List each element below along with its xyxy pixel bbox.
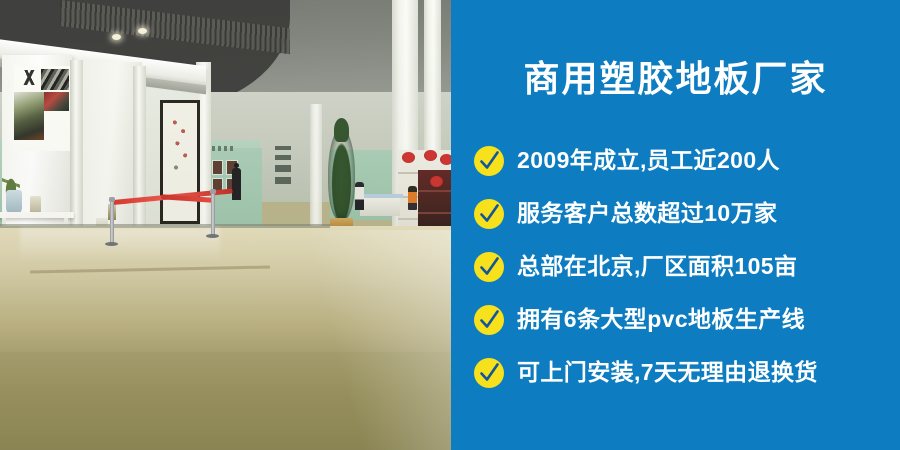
barrier-post-top — [109, 197, 115, 202]
floor-light-sheen — [300, 230, 451, 450]
poster-photo — [14, 92, 44, 140]
feature-list: 2009年成立,员工近200人 服务客户总数超过10万家 总部在北京,厂区面积1… — [451, 134, 900, 399]
booth-column — [133, 66, 146, 250]
flower-bouquet — [402, 152, 415, 163]
feature-label: 拥有6条大型pvc地板生产线 — [517, 308, 805, 331]
list-item: 拥有6条大型pvc地板生产线 — [451, 293, 900, 346]
list-item: 2009年成立,员工近200人 — [451, 134, 900, 187]
check-circle-icon — [473, 251, 505, 283]
person-in-orange — [408, 186, 417, 210]
feature-label: 总部在北京,厂区面积105亩 — [517, 255, 797, 278]
poster-calligraphy — [18, 70, 40, 85]
barrier-post — [211, 192, 215, 236]
list-item: 服务客户总数超过10万家 — [451, 187, 900, 240]
person-head — [234, 163, 239, 168]
promo-banner: 商用塑胶地板厂家 2009年成立,员工近200人 服务客户总数超过10万家 — [0, 0, 900, 450]
reception-counter-top — [358, 194, 403, 198]
wall-calligraphy — [275, 146, 291, 188]
feature-label: 服务客户总数超过10万家 — [517, 202, 777, 225]
check-circle-icon — [473, 357, 505, 389]
info-panel: 商用塑胶地板厂家 2009年成立,员工近200人 服务客户总数超过10万家 — [451, 0, 900, 450]
reception-counter — [360, 196, 400, 216]
showroom-photo-scene — [0, 0, 451, 450]
feature-label: 2009年成立,员工近200人 — [517, 149, 780, 172]
check-circle-icon — [473, 145, 505, 177]
cabinet-shelf — [418, 212, 451, 214]
cabinet-shelf — [418, 190, 451, 192]
flower-bouquet — [430, 176, 443, 187]
person-standing — [232, 168, 241, 200]
structural-column — [310, 104, 322, 232]
check-circle-icon — [473, 304, 505, 336]
flower-bouquet — [440, 154, 451, 165]
vase — [6, 190, 22, 214]
showroom-photo — [0, 0, 451, 450]
ceiling-lamp-icon — [138, 28, 147, 34]
barrier-post — [110, 200, 114, 244]
page-title: 商用塑胶地板厂家 — [451, 57, 900, 100]
feature-label: 可上门安装,7天无理由退换货 — [517, 361, 818, 384]
list-item: 可上门安装,7天无理由退换货 — [451, 346, 900, 399]
floor-reflection — [20, 228, 220, 262]
display-table — [0, 212, 74, 218]
list-item: 总部在北京,厂区面积105亩 — [451, 240, 900, 293]
framed-artwork — [160, 100, 200, 224]
ceiling-lamp-icon — [112, 34, 121, 40]
flower-bouquet — [424, 150, 437, 161]
barrier-post-base — [206, 234, 219, 238]
barrier-post-top — [210, 189, 216, 194]
check-circle-icon — [473, 198, 505, 230]
poster-photo — [41, 69, 69, 90]
person-standing — [355, 182, 364, 210]
poster-photo — [41, 92, 69, 111]
barrier-post-base — [105, 242, 118, 246]
conifer-plant-top — [334, 118, 349, 142]
